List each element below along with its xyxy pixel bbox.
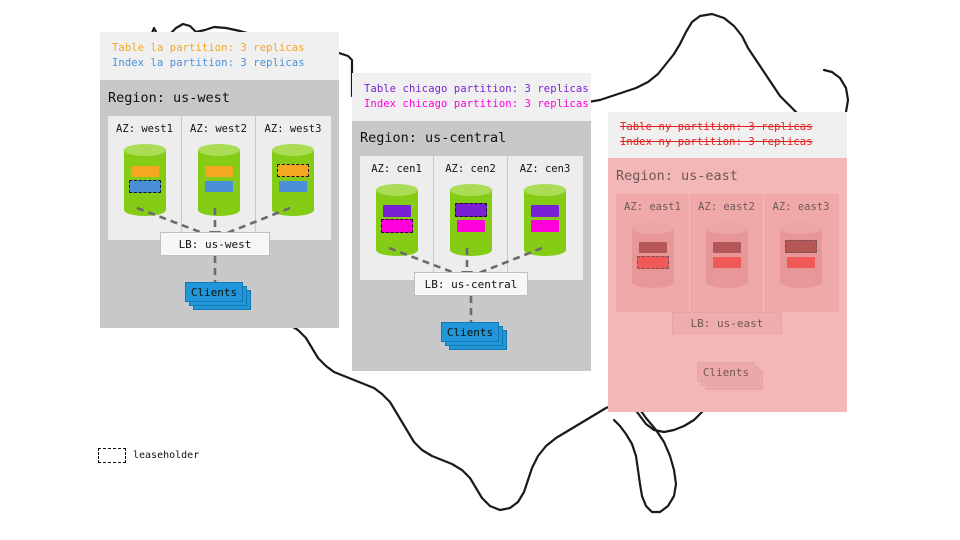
note-line-table-ny: Table ny partition: 3 replicas — [608, 120, 847, 135]
az-label-west3: AZ: west3 — [265, 123, 322, 135]
replica-bar-table[interactable] — [205, 166, 233, 177]
region-title-us-east: Region: us-east — [616, 168, 738, 184]
note-line-table-chicago: Table chicago partition: 3 replicas — [352, 82, 591, 97]
clients-stack-us-west[interactable]: Clients — [185, 282, 253, 310]
arrow-west1 — [137, 208, 208, 235]
lb-to-clients-line-central — [414, 296, 528, 322]
cylinder-top — [524, 184, 566, 196]
legend-label: leaseholder — [133, 450, 199, 461]
node-cylinder-east2[interactable] — [706, 222, 748, 288]
cylinder-top — [272, 144, 314, 156]
clients-stack-us-central[interactable]: Clients — [441, 322, 509, 350]
replica-bar-table[interactable] — [131, 166, 159, 177]
diagram-canvas: Table la partition: 3 replicas Index la … — [0, 0, 960, 540]
replica-bar-index[interactable] — [713, 257, 741, 268]
az-cell-east2[interactable]: AZ: east2 — [690, 194, 764, 312]
cylinder-body — [706, 228, 748, 282]
node-cylinder-east1[interactable] — [632, 222, 674, 288]
az-cell-east1[interactable]: AZ: east1 — [616, 194, 690, 312]
legend: leaseholder — [98, 448, 199, 463]
region-title-us-west: Region: us-west — [108, 90, 230, 106]
arrow-west3 — [222, 208, 290, 235]
az-label-cen2: AZ: cen2 — [445, 163, 496, 175]
az-cell-east3[interactable]: AZ: east3 — [764, 194, 838, 312]
dashed-rectangle-icon — [98, 448, 126, 463]
note-line-table-la: Table la partition: 3 replicas — [100, 41, 339, 56]
us-map-florida-detail — [614, 404, 676, 512]
region-title-us-central: Region: us-central — [360, 130, 506, 146]
az-label-east3: AZ: east3 — [773, 201, 830, 213]
note-line-index-ny: Index ny partition: 3 replicas — [608, 135, 847, 150]
cylinder-top — [780, 222, 822, 234]
cylinder-body — [632, 228, 674, 282]
replica-bar-table-leaseholder[interactable] — [277, 164, 309, 177]
arrow-cen3 — [474, 248, 542, 275]
az-label-east1: AZ: east1 — [624, 201, 681, 213]
cylinder-top — [632, 222, 674, 234]
cylinder-top — [706, 222, 748, 234]
clients-stack-us-east[interactable]: Clients — [697, 362, 765, 390]
note-line-index-la: Index la partition: 3 replicas — [100, 56, 339, 71]
replica-bar-index[interactable] — [787, 257, 815, 268]
lb-box-us-central[interactable]: LB: us-central — [414, 272, 528, 296]
lb-to-clients-line-west — [160, 256, 270, 282]
replica-bar-table[interactable] — [531, 205, 559, 217]
az-strip-us-east: AZ: east1 AZ: east2 AZ: east3 — [616, 194, 839, 312]
replica-bar-table-leaseholder[interactable] — [785, 240, 817, 253]
note-line-index-chicago: Index chicago partition: 3 replicas — [352, 97, 591, 112]
az-label-cen1: AZ: cen1 — [371, 163, 422, 175]
clients-box-us-central[interactable]: Clients — [441, 322, 499, 342]
replica-bar-table-leaseholder[interactable] — [455, 203, 487, 217]
az-label-west1: AZ: west1 — [116, 123, 173, 135]
arrow-cen1 — [389, 248, 460, 275]
cylinder-top — [124, 144, 166, 156]
replica-bar-index-leaseholder[interactable] — [637, 256, 669, 269]
replica-bar-table[interactable] — [383, 205, 411, 217]
az-label-west2: AZ: west2 — [190, 123, 247, 135]
replica-bar-table[interactable] — [713, 242, 741, 253]
cylinder-body — [780, 228, 822, 282]
cylinder-top — [450, 184, 492, 196]
lb-box-us-west[interactable]: LB: us-west — [160, 232, 270, 256]
clients-box-us-east[interactable]: Clients — [697, 362, 755, 382]
node-cylinder-east3[interactable] — [780, 222, 822, 288]
note-box-us-west: Table la partition: 3 replicas Index la … — [100, 32, 339, 80]
cylinder-top — [376, 184, 418, 196]
note-box-us-central: Table chicago partition: 3 replicas Inde… — [352, 73, 591, 121]
az-label-cen3: AZ: cen3 — [520, 163, 571, 175]
lb-box-us-east[interactable]: LB: us-east — [672, 312, 782, 334]
note-box-us-east: Table ny partition: 3 replicas Index ny … — [608, 112, 847, 158]
cylinder-top — [198, 144, 240, 156]
clients-box-us-west[interactable]: Clients — [185, 282, 243, 302]
replica-bar-table[interactable] — [639, 242, 667, 253]
az-label-east2: AZ: east2 — [698, 201, 755, 213]
